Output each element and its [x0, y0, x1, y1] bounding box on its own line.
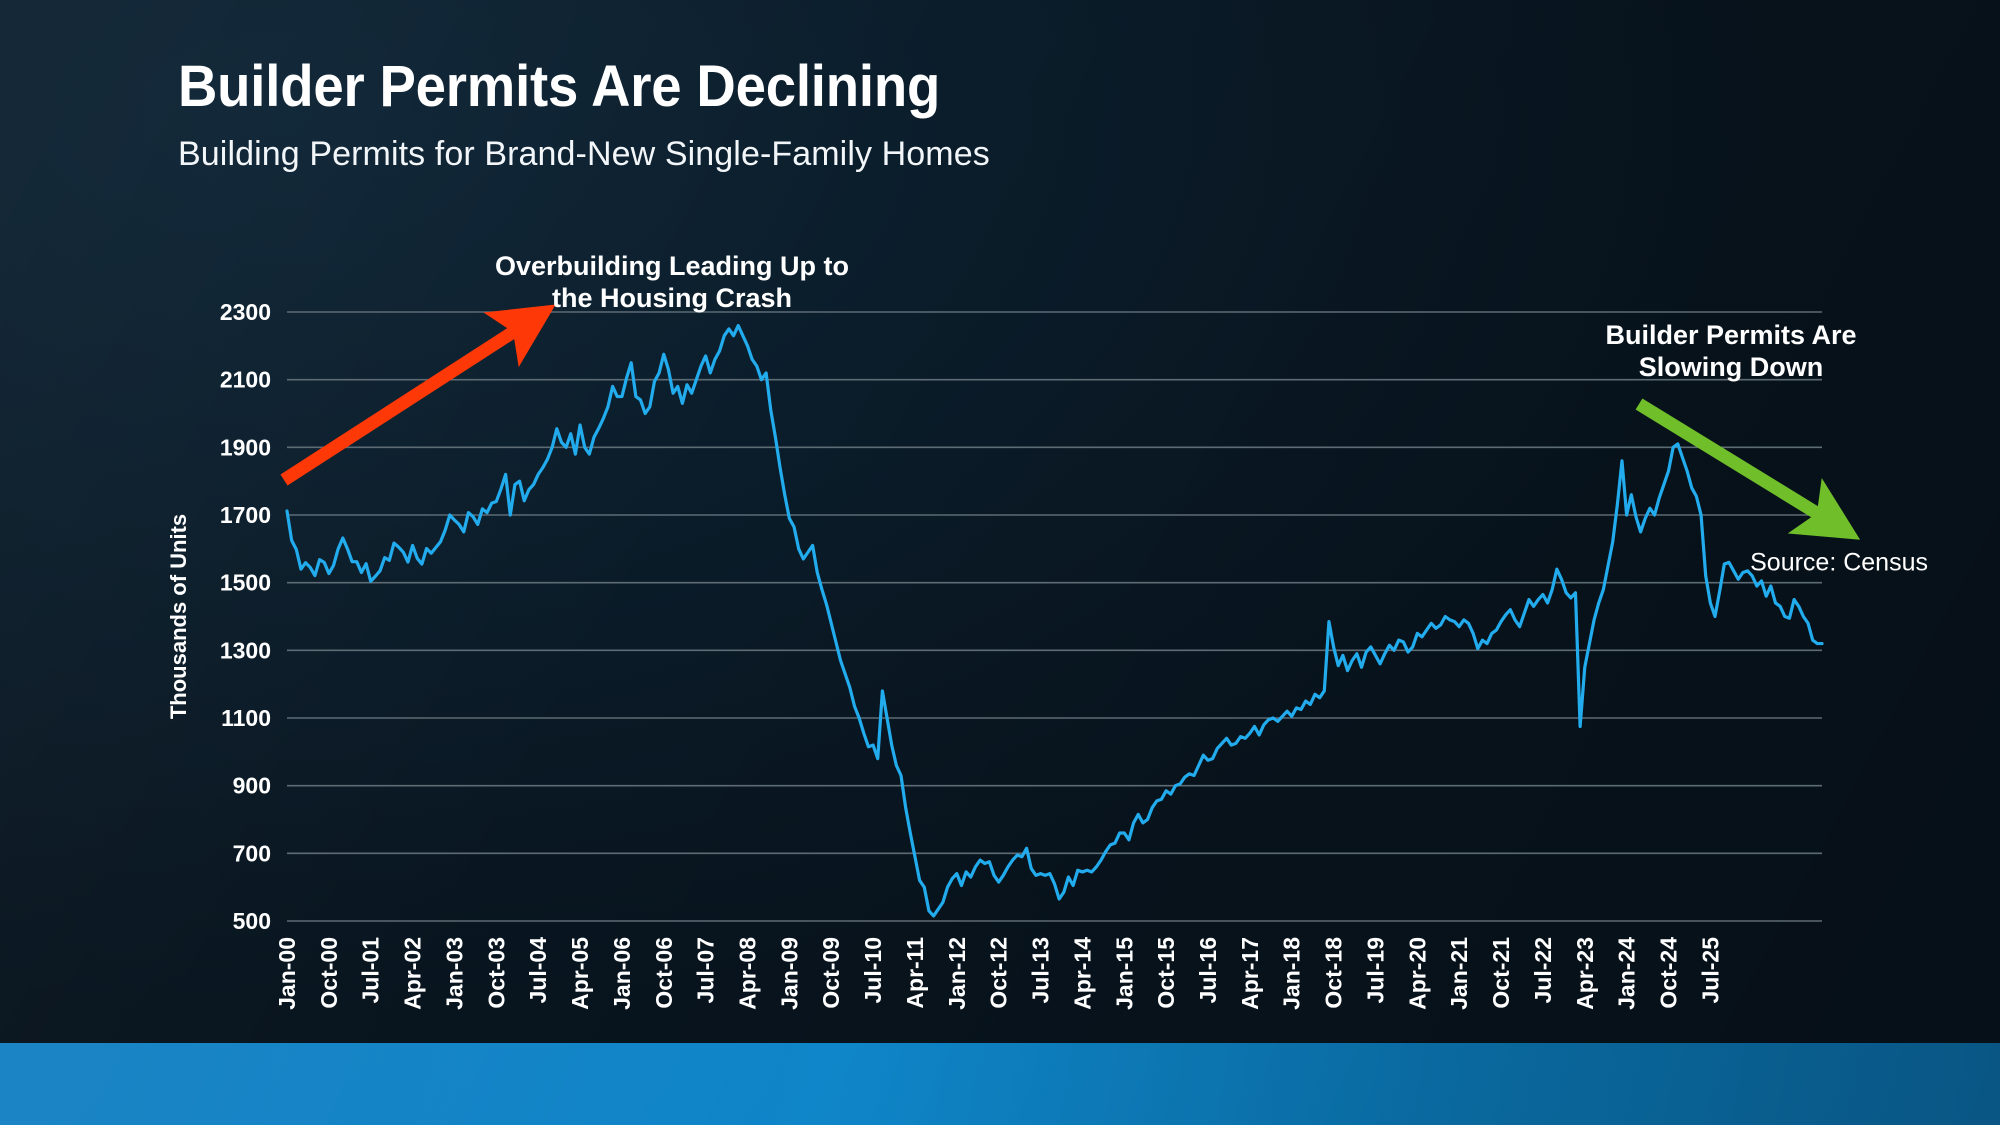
x-axis-tick-label: Oct-15: [1153, 937, 1179, 1009]
annotation-left-line2: the Housing Crash: [552, 283, 792, 313]
x-axis-tick-label: Jan-18: [1279, 937, 1305, 1010]
x-axis-tick-label: Jan-21: [1446, 937, 1472, 1010]
y-axis-tick-label: 2300: [220, 299, 271, 325]
annotation-right-line2: Slowing Down: [1639, 352, 1823, 382]
header: Builder Permits Are Declining Building P…: [178, 56, 1578, 174]
y-axis-tick-label: 700: [233, 840, 271, 866]
y-axis-tick-label: 1900: [220, 434, 271, 460]
y-axis-tick-label: 500: [233, 908, 271, 934]
x-axis-tick-label: Jul-16: [1195, 937, 1221, 1003]
x-axis-tick-label: Oct-24: [1656, 937, 1682, 1009]
x-axis-tick-label: Jul-13: [1028, 937, 1054, 1003]
x-axis-tick-label: Jul-25: [1697, 937, 1723, 1004]
x-axis-tick-label: Apr-08: [735, 937, 761, 1010]
x-axis-tick-label: Apr-23: [1572, 937, 1598, 1010]
green-down-arrow-icon: [1639, 404, 1828, 520]
x-axis-tick-label: Jul-22: [1530, 937, 1556, 1003]
gridlines: [287, 312, 1822, 921]
source-label: Source: Census: [1750, 548, 1928, 577]
x-axis-tick-label: Apr-20: [1404, 937, 1430, 1010]
x-axis-tick-label: Jan-15: [1111, 937, 1137, 1010]
y-axis-tick-label: 1500: [220, 570, 271, 596]
x-axis-tick-label: Oct-00: [316, 937, 342, 1009]
x-axis-tick-label: Oct-09: [818, 937, 844, 1009]
x-axis-tick-label: Apr-14: [1069, 937, 1095, 1010]
slide-background: Builder Permits Are Declining Building P…: [0, 0, 2000, 1125]
x-axis-tick-label: Jan-06: [609, 937, 635, 1010]
x-axis-tick-label: Jan-24: [1614, 937, 1640, 1010]
x-axis-tick-label: Jul-19: [1363, 937, 1389, 1003]
page-title: Builder Permits Are Declining: [178, 56, 1494, 117]
y-axis-tick-label: 1700: [220, 502, 271, 528]
x-axis-tick-label: Oct-06: [651, 937, 677, 1009]
x-axis-tick-label: Apr-17: [1237, 937, 1263, 1010]
y-axis-tick-label: 2100: [220, 367, 271, 393]
x-axis-tick-label: Jul-10: [860, 937, 886, 1003]
x-axis-tick-label: Apr-11: [902, 937, 928, 1009]
red-up-arrow-icon: [284, 325, 524, 480]
x-axis-tick-label: Jan-00: [274, 937, 300, 1010]
x-axis-tick-label: Jul-07: [693, 937, 719, 1003]
x-axis-tick-label: Jan-09: [776, 937, 802, 1010]
annotation-right-line1: Builder Permits Are: [1605, 320, 1856, 350]
x-axis-tick-label: Jul-01: [358, 937, 384, 1004]
x-axis-tick-label: Oct-12: [986, 937, 1012, 1009]
y-axis-tick-label: 1100: [221, 705, 271, 731]
series-line-single-family-permits: [287, 326, 1822, 916]
x-axis-tick-label: Oct-21: [1488, 937, 1514, 1009]
y-axis-title: Thousands of Units: [166, 514, 191, 719]
x-axis-tick-label: Jan-03: [442, 937, 468, 1010]
x-axis-tick-label: Oct-03: [483, 937, 509, 1009]
y-axis-tick-label: 900: [233, 773, 271, 799]
x-axis-tick-label: Apr-02: [400, 937, 426, 1010]
footer-bar: [0, 1043, 2000, 1125]
y-axis-tick-labels: 5007009001100130015001700190021002300: [220, 299, 271, 934]
x-axis-tick-label: Jan-12: [944, 937, 970, 1010]
page-subtitle: Building Permits for Brand-New Single-Fa…: [178, 135, 1578, 174]
x-axis-tick-label: Apr-05: [567, 937, 593, 1010]
x-axis-tick-label: Oct-18: [1321, 937, 1347, 1009]
x-axis-tick-labels: Jan-00Oct-00Jul-01Apr-02Jan-03Oct-03Jul-…: [274, 937, 1723, 1010]
y-axis-tick-label: 1300: [220, 637, 271, 663]
x-axis-tick-label: Jul-04: [525, 937, 551, 1004]
annotation-left-line1: Overbuilding Leading Up to: [495, 251, 849, 281]
